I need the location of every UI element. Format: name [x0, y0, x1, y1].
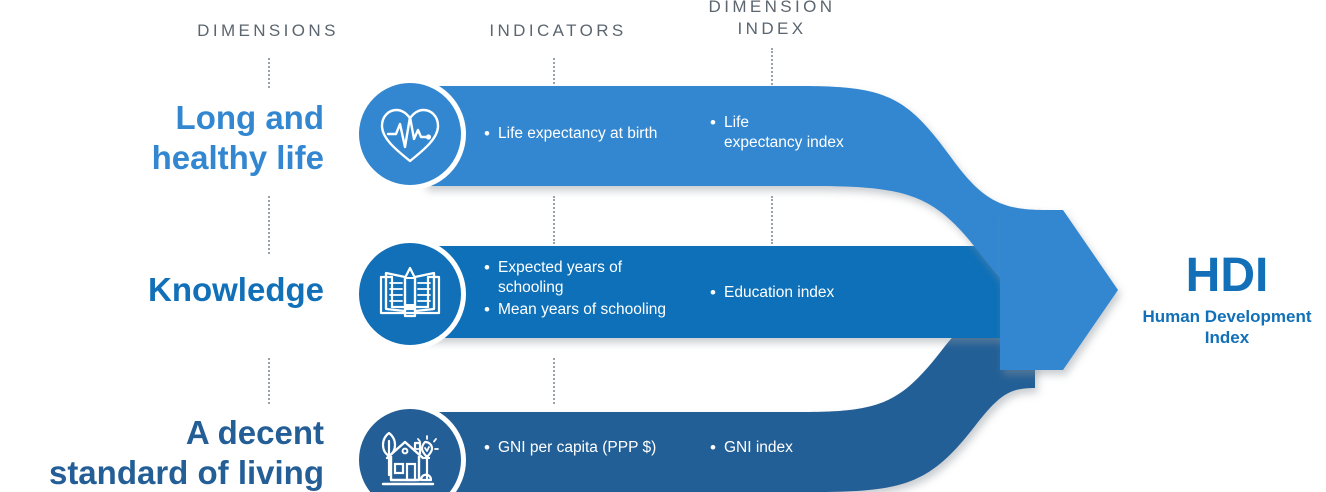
dimension-index-list-health: • Life expectancy index: [710, 113, 885, 155]
hdi-arrow-head: [1000, 210, 1118, 370]
hdi-result: HDI Human Development Index: [1128, 252, 1326, 348]
hdi-full-name: Human Development Index: [1128, 306, 1326, 349]
indicator-text: Life expectancy at birth: [498, 124, 657, 144]
bullet-icon: •: [484, 300, 498, 320]
indicator-list-health: • Life expectancy at birth: [484, 124, 704, 146]
icon-circle-health: [354, 78, 466, 190]
hdi-acronym: HDI: [1128, 252, 1326, 301]
indicator-text: Mean years of schooling: [498, 300, 666, 320]
bullet-icon: •: [710, 283, 724, 303]
dimension-index-item: • Education index: [710, 283, 910, 303]
indicator-item: • Expected years of schooling: [484, 258, 714, 298]
bullet-icon: •: [484, 258, 498, 278]
indicator-text: Expected years of schooling: [498, 258, 622, 298]
indicator-list-standard-of-living: • GNI per capita (PPP $): [484, 438, 704, 460]
indicator-item: • Mean years of schooling: [484, 300, 714, 320]
dimension-index-list-knowledge: • Education index: [710, 283, 910, 305]
flow-ribbons: [0, 0, 1326, 492]
indicator-list-knowledge: • Expected years of schooling • Mean yea…: [484, 258, 714, 322]
dimension-index-text: GNI index: [724, 438, 793, 458]
bullet-icon: •: [710, 438, 724, 458]
icon-circle-knowledge: [354, 238, 466, 350]
open-book-pencil-icon: [375, 259, 445, 329]
house-leaf-bulb-icon: [375, 425, 445, 492]
indicator-text: GNI per capita (PPP $): [498, 438, 656, 458]
hdi-diagram: DIMENSIONS INDICATORS DIMENSION INDEX Lo…: [0, 0, 1326, 492]
bullet-icon: •: [484, 438, 498, 458]
indicator-item: • GNI per capita (PPP $): [484, 438, 704, 458]
dimension-index-list-standard-of-living: • GNI index: [710, 438, 890, 460]
bullet-icon: •: [710, 113, 724, 133]
bullet-icon: •: [484, 124, 498, 144]
indicator-item: • Life expectancy at birth: [484, 124, 704, 144]
dimension-index-text: Life expectancy index: [724, 113, 844, 153]
dimension-index-item: • Life expectancy index: [710, 113, 885, 153]
dimension-index-text: Education index: [724, 283, 834, 303]
heart-pulse-icon: [375, 99, 445, 169]
dimension-index-item: • GNI index: [710, 438, 890, 458]
